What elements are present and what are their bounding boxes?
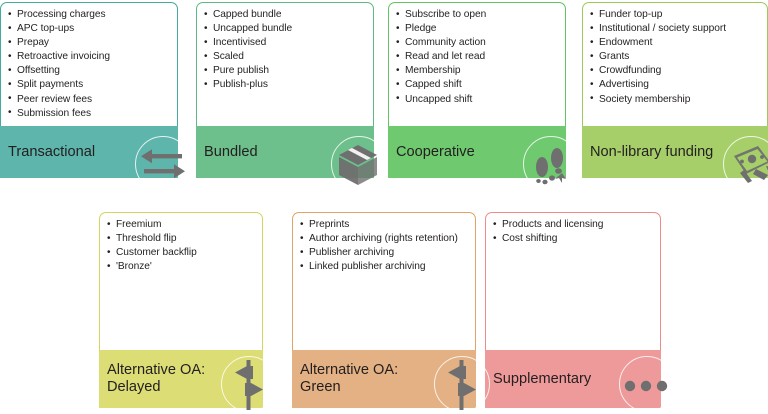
bullet-list-transactional: Processing charges APC top-ups Prepay Re… [1,3,177,120]
list-item: Funder top-up [590,8,761,22]
card-cooperative[interactable]: Subscribe to open Pledge Community actio… [388,2,566,178]
list-item: Split payments [8,78,171,92]
signpost-icon [221,356,277,412]
list-item: Preprints [300,218,469,232]
package-box-icon [331,136,387,192]
list-item: Peer review fees [8,93,171,107]
list-item: Publish-plus [204,78,367,92]
card-supplementary[interactable]: Products and licensing Cost shifting Sup… [485,212,661,408]
list-item: Advertising [590,78,761,92]
card-bundled[interactable]: Capped bundle Uncapped bundle Incentivis… [196,2,374,178]
card-title: Non-library funding [582,144,717,161]
list-item: Incentivised [204,36,367,50]
list-item: 'Bronze' [107,260,256,274]
bullet-list-cooperative: Subscribe to open Pledge Community actio… [389,3,565,106]
card-title: Bundled [196,144,262,161]
bullet-list-bundled: Capped bundle Uncapped bundle Incentivis… [197,3,373,92]
list-item: Linked publisher archiving [300,260,469,274]
card-title: Alternative OA: Green [292,362,402,396]
card-transactional[interactable]: Processing charges APC top-ups Prepay Re… [0,2,178,178]
list-item: Read and let read [396,50,559,64]
card-body-bundled: Capped bundle Uncapped bundle Incentivis… [196,2,374,126]
list-item: Uncapped bundle [204,22,367,36]
list-item: Publisher archiving [300,246,469,260]
list-item: Subscribe to open [396,8,559,22]
card-body-cooperative: Subscribe to open Pledge Community actio… [388,2,566,126]
business-models-diagram: Processing charges APC top-ups Prepay Re… [0,0,768,414]
bullet-list-non-library-funding: Funder top-up Institutional / society su… [583,3,767,106]
card-footer-alternative-oa-delayed: Alternative OA: Delayed [99,350,263,408]
list-item: Retroactive invoicing [8,50,171,64]
card-footer-non-library-funding: Non-library funding [582,126,768,178]
card-body-non-library-funding: Funder top-up Institutional / society su… [582,2,768,126]
list-item: Crowdfunding [590,64,761,78]
card-footer-alternative-oa-green: Alternative OA: Green [292,350,476,408]
money-banknote-icon [723,136,768,192]
list-item: Processing charges [8,8,171,22]
card-alternative-oa-delayed[interactable]: Freemium Threshold flip Customer backfli… [99,212,263,408]
three-dots-icon [619,356,675,412]
list-item: Community action [396,36,559,50]
bullet-list-alternative-oa-green: Preprints Author archiving (rights reten… [293,213,475,274]
card-title: Transactional [0,144,99,161]
list-item: Grants [590,50,761,64]
list-item: Membership [396,64,559,78]
card-body-transactional: Processing charges APC top-ups Prepay Re… [0,2,178,126]
list-item: Author archiving (rights retention) [300,232,469,246]
card-body-supplementary: Products and licensing Cost shifting [485,212,661,350]
list-item: Pledge [396,22,559,36]
card-title: Cooperative [388,144,479,161]
list-item: Society membership [590,93,761,107]
bullet-list-supplementary: Products and licensing Cost shifting [486,213,660,246]
card-body-alternative-oa-delayed: Freemium Threshold flip Customer backfli… [99,212,263,350]
list-item: Capped shift [396,78,559,92]
list-item: Prepay [8,36,171,50]
bullet-list-alternative-oa-delayed: Freemium Threshold flip Customer backfli… [100,213,262,274]
list-item: Freemium [107,218,256,232]
list-item: Institutional / society support [590,22,761,36]
list-item: Pure publish [204,64,367,78]
list-item: Endowment [590,36,761,50]
list-item: Customer backflip [107,246,256,260]
list-item: Offsetting [8,64,171,78]
list-item: Uncapped shift [396,93,559,107]
card-title: Alternative OA: Delayed [99,362,209,396]
list-item: Submission fees [8,107,171,121]
card-footer-cooperative: Cooperative [388,126,566,178]
list-item: Products and licensing [493,218,654,232]
card-footer-transactional: Transactional [0,126,178,178]
list-item: Threshold flip [107,232,256,246]
list-item: Scaled [204,50,367,64]
card-alternative-oa-green[interactable]: Preprints Author archiving (rights reten… [292,212,476,408]
two-way-arrows-icon [135,136,191,192]
list-item: Cost shifting [493,232,654,246]
footprints-icon [523,136,579,192]
card-non-library-funding[interactable]: Funder top-up Institutional / society su… [582,2,768,178]
list-item: Capped bundle [204,8,367,22]
card-footer-bundled: Bundled [196,126,374,178]
card-title: Supplementary [485,371,595,388]
card-footer-supplementary: Supplementary [485,350,661,408]
card-body-alternative-oa-green: Preprints Author archiving (rights reten… [292,212,476,350]
signpost-icon [434,356,490,412]
list-item: APC top-ups [8,22,171,36]
